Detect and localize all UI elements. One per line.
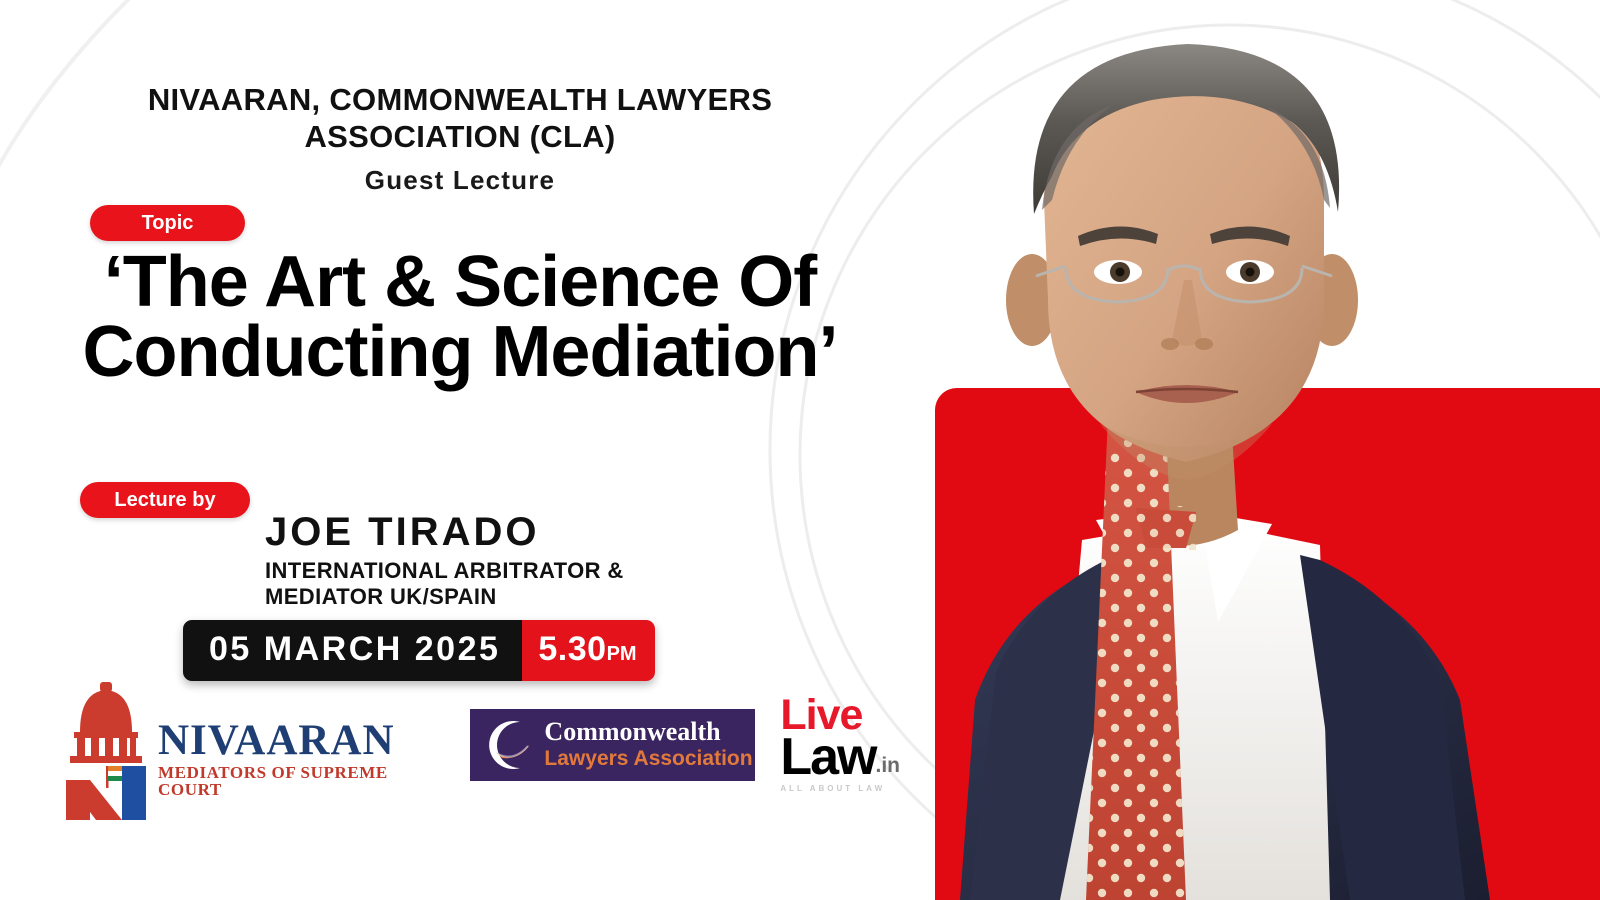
livelaw-domain: .in <box>876 757 901 780</box>
speaker-role: INTERNATIONAL ARBITRATOR & MEDIATOR UK/S… <box>265 558 725 609</box>
event-time-suffix: PM <box>607 643 637 666</box>
event-type-label: Guest Lecture <box>60 165 860 196</box>
speaker-name: JOE TIRADO <box>265 510 725 554</box>
topic-pill-label: Topic <box>142 212 194 235</box>
cla-wordmark: Commonwealth Lawyers Association <box>544 719 752 771</box>
cla-line-2: Lawyers Association <box>544 747 752 771</box>
speaker-portrait-photo <box>900 0 1600 900</box>
nivaaran-logo: NIVAARAN MEDIATORS OF SUPREME COURT <box>60 670 456 820</box>
livelaw-word-2-row: Law .in <box>780 735 900 781</box>
livelaw-tagline: ALL ABOUT LAW <box>780 784 900 793</box>
speaker-details: JOE TIRADO INTERNATIONAL ARBITRATOR & ME… <box>265 510 725 609</box>
speaker-role-line-1: INTERNATIONAL ARBITRATOR & <box>265 558 725 584</box>
nivaaran-tagline: MEDIATORS OF SUPREME COURT <box>158 764 456 798</box>
speaker-role-line-2: MEDIATOR UK/SPAIN <box>265 584 725 610</box>
nivaaran-wordmark: NIVAARAN MEDIATORS OF SUPREME COURT <box>158 719 456 820</box>
crescent-globe-icon <box>480 716 538 774</box>
organisation-title: NIVAARAN, COMMONWEALTH LAWYERS ASSOCIATI… <box>60 82 860 155</box>
lecture-by-pill-label: Lecture by <box>114 489 215 512</box>
livelaw-logo: Live Law .in ALL ABOUT LAW <box>780 697 900 793</box>
topic-pill: Topic <box>90 205 245 241</box>
nivaaran-name: NIVAARAN <box>158 719 456 762</box>
lecture-by-pill: Lecture by <box>80 482 250 518</box>
logo-strip: NIVAARAN MEDIATORS OF SUPREME COURT Comm… <box>60 665 900 825</box>
cla-line-1: Commonwealth <box>544 719 752 745</box>
poster-canvas: NIVAARAN, COMMONWEALTH LAWYERS ASSOCIATI… <box>0 0 1600 900</box>
lecture-title: ‘The Art & Science Of Conducting Mediati… <box>40 248 880 388</box>
cla-logo: Commonwealth Lawyers Association <box>470 709 755 781</box>
livelaw-word-2: Law <box>780 735 875 781</box>
content-column: NIVAARAN, COMMONWEALTH LAWYERS ASSOCIATI… <box>0 0 900 900</box>
event-time-value: 5.30 <box>538 630 606 669</box>
supreme-court-dome-icon <box>60 680 152 820</box>
